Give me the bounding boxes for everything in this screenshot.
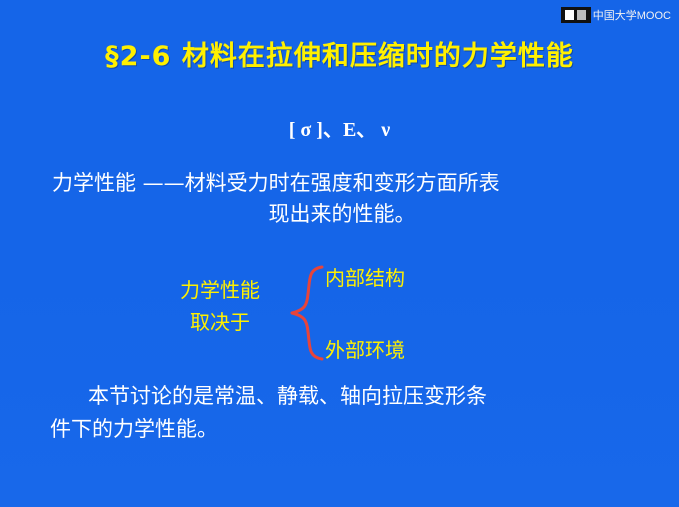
mooc-logo-icon	[561, 7, 591, 23]
curly-brace-icon	[288, 264, 324, 362]
brace-right-item-1: 内部结构	[325, 262, 405, 291]
mooc-watermark: 中国大学MOOC	[561, 6, 671, 24]
symbols-line: [ σ ]、E、 ν	[0, 113, 679, 142]
definition-line-1: 力学性能 ——材料受力时在强度和变形方面所表	[52, 168, 632, 199]
slide-canvas: 中国大学MOOC §2-6 材料在拉伸和压缩时的力学性能 [ σ ]、E、 ν …	[0, 0, 679, 507]
mooc-logo-label: 中国大学MOOC	[593, 7, 671, 23]
definition-paragraph: 力学性能 ——材料受力时在强度和变形方面所表 现出来的性能。	[52, 168, 632, 230]
slide-title: §2-6 材料在拉伸和压缩时的力学性能	[0, 34, 679, 73]
brace-left-line-1: 力学性能	[180, 278, 260, 302]
scope-line-1: 本节讨论的是常温、静载、轴向拉压变形条	[50, 380, 640, 413]
brace-right-item-2: 外部环境	[325, 334, 405, 363]
definition-line-2: 现出来的性能。	[52, 199, 632, 230]
brace-left-label: 力学性能 取决于	[155, 274, 285, 338]
scope-line-2: 件下的力学性能。	[50, 413, 640, 446]
scope-paragraph: 本节讨论的是常温、静载、轴向拉压变形条 件下的力学性能。	[50, 380, 640, 446]
brace-group: 力学性能 取决于 内部结构 外部环境	[0, 262, 679, 372]
brace-left-line-2: 取决于	[155, 306, 285, 338]
